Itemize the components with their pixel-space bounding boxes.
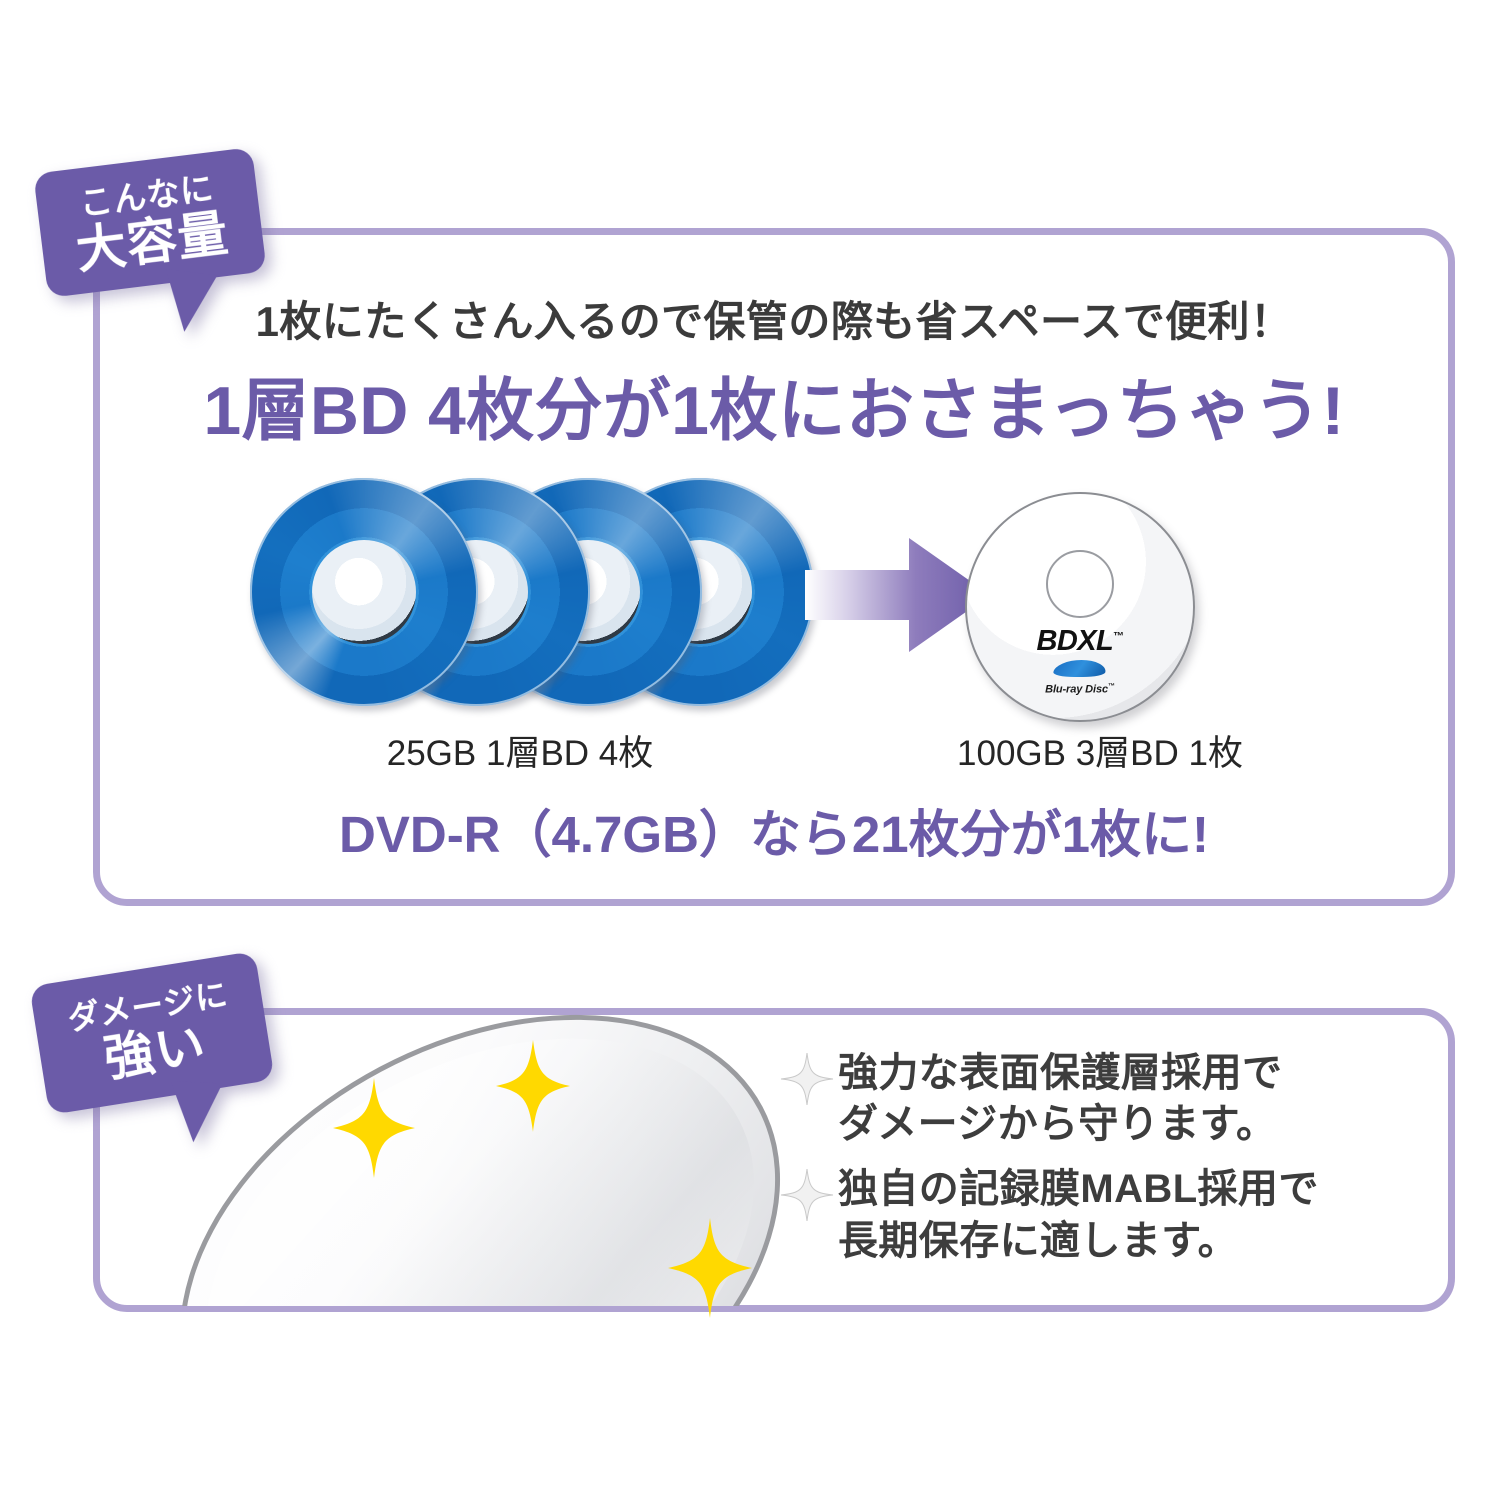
- bdxl-trademark: ™: [1113, 630, 1123, 642]
- durability-bullet-list: 強力な表面保護層採用で ダメージから守ります。 独自の記録膜MABL採用で 長期…: [780, 1048, 1420, 1281]
- bdxl-wordmark-text: BDXL: [1036, 625, 1113, 657]
- left-disc-caption: 25GB 1層BD 4枚: [240, 725, 800, 776]
- blu-ray-logo-text: Blu-ray Disc™: [967, 683, 1193, 696]
- capacity-badge-tail: [159, 269, 218, 335]
- capacity-subtitle: 1枚にたくさん入るので保管の際も省スペースで便利！: [93, 288, 1455, 349]
- list-item: 独自の記録膜MABL採用で 長期保存に適します。: [780, 1164, 1420, 1266]
- bullet-line: 独自の記録膜MABL採用で: [838, 1164, 1319, 1215]
- infographic-canvas: こんなに 大容量 1枚にたくさん入るので保管の際も省スペースで便利！ 1層BD …: [0, 0, 1500, 1500]
- bullet-text: 強力な表面保護層採用で ダメージから守ります。: [838, 1048, 1282, 1150]
- bullet-line: 長期保存に適します。: [838, 1216, 1319, 1267]
- sparkle-star-icon: [780, 1052, 834, 1106]
- disc-hub: [1046, 550, 1114, 618]
- list-item: 強力な表面保護層採用で ダメージから守ります。: [780, 1048, 1420, 1150]
- capacity-headline: 1層BD 4枚分が1枚におさまっちゃう!: [93, 355, 1455, 454]
- capacity-footline: DVD-R（4.7GB）なら21枚分が1枚に!: [93, 793, 1455, 867]
- bdxl-wordmark: BDXL™: [967, 625, 1193, 658]
- blu-ray-swoosh-icon: [1053, 660, 1108, 677]
- bullet-line: 強力な表面保護層採用で: [838, 1048, 1282, 1099]
- durability-badge-line2: 強い: [101, 1019, 210, 1084]
- right-disc-caption: 100GB 3層BD 1枚: [860, 725, 1340, 776]
- bullet-line: ダメージから守ります。: [838, 1099, 1282, 1150]
- blu-ray-disc-logo-icon: Blu-ray Disc™: [967, 660, 1193, 696]
- blu-ray-disc-icon: [250, 478, 478, 706]
- blu-ray-disc-stack: [250, 478, 810, 710]
- capacity-badge: こんなに 大容量: [33, 147, 267, 298]
- bullet-text: 独自の記録膜MABL採用で 長期保存に適します。: [838, 1164, 1319, 1266]
- bdxl-disc-graphic: BDXL™ Blu-ray Disc™: [965, 492, 1195, 722]
- durability-badge-tail: [167, 1081, 222, 1144]
- sparkle-star-icon: [780, 1168, 834, 1222]
- right-arrow-icon: [805, 532, 990, 658]
